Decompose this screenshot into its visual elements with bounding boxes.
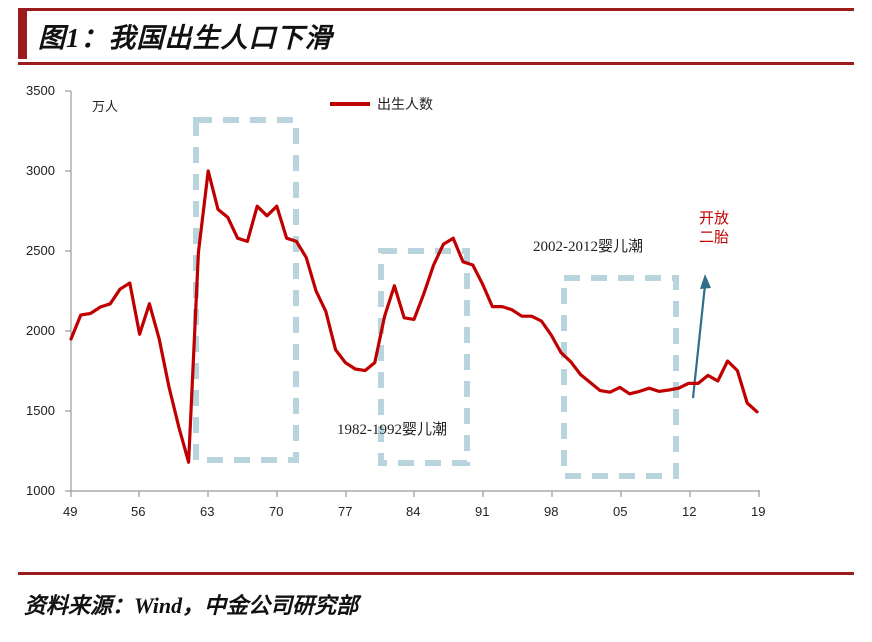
title-bottom-rule (18, 62, 854, 65)
page-title: 图1：我国出生人口下滑 (38, 16, 333, 55)
y-tick-2000: 2000 (26, 323, 55, 338)
x-tick-49: 49 (63, 504, 77, 519)
baby-boom-box-1963 (196, 120, 296, 460)
x-tick-77: 77 (338, 504, 352, 519)
unit-label: 万人 (92, 96, 118, 115)
x-tick-56: 56 (131, 504, 145, 519)
x-tick-84: 84 (406, 504, 420, 519)
x-tick-63: 63 (200, 504, 214, 519)
x-tick-05: 05 (613, 504, 627, 519)
y-tick-3000: 3000 (26, 163, 55, 178)
legend-label-births: 出生人数 (377, 94, 433, 114)
chart-page: 图1：我国出生人口下滑 (0, 0, 872, 642)
x-tick-12: 12 (682, 504, 696, 519)
x-tick-98: 98 (544, 504, 558, 519)
annotation-two-child-policy: 开放 二胎 (690, 210, 738, 248)
y-tick-2500: 2500 (26, 243, 55, 258)
footer-rule (18, 572, 854, 575)
birth-population-line-chart (0, 70, 872, 570)
y-tick-3500: 3500 (26, 83, 55, 98)
x-tick-91: 91 (475, 504, 489, 519)
y-tick-1500: 1500 (26, 403, 55, 418)
source-note: 资料来源：Wind，中金公司研究部 (24, 588, 358, 620)
title-top-rule (18, 8, 854, 11)
annotation-1982-baby-boom: 1982-1992婴儿潮 (337, 418, 447, 439)
x-tick-70: 70 (269, 504, 283, 519)
chart-legend: 出生人数 (330, 94, 433, 114)
title-accent-bar (18, 11, 27, 59)
chart-container: 3500 3000 2500 2000 1500 1000 49 56 63 7… (0, 70, 872, 570)
annotation-two-child-line1: 开放 (690, 210, 738, 229)
annotation-two-child-line2: 二胎 (690, 229, 738, 248)
y-tick-1000: 1000 (26, 483, 55, 498)
x-tick-19: 19 (751, 504, 765, 519)
annotation-2002-baby-boom: 2002-2012婴儿潮 (533, 235, 643, 256)
baby-boom-box-2002 (564, 278, 676, 476)
legend-swatch-births (330, 102, 370, 106)
